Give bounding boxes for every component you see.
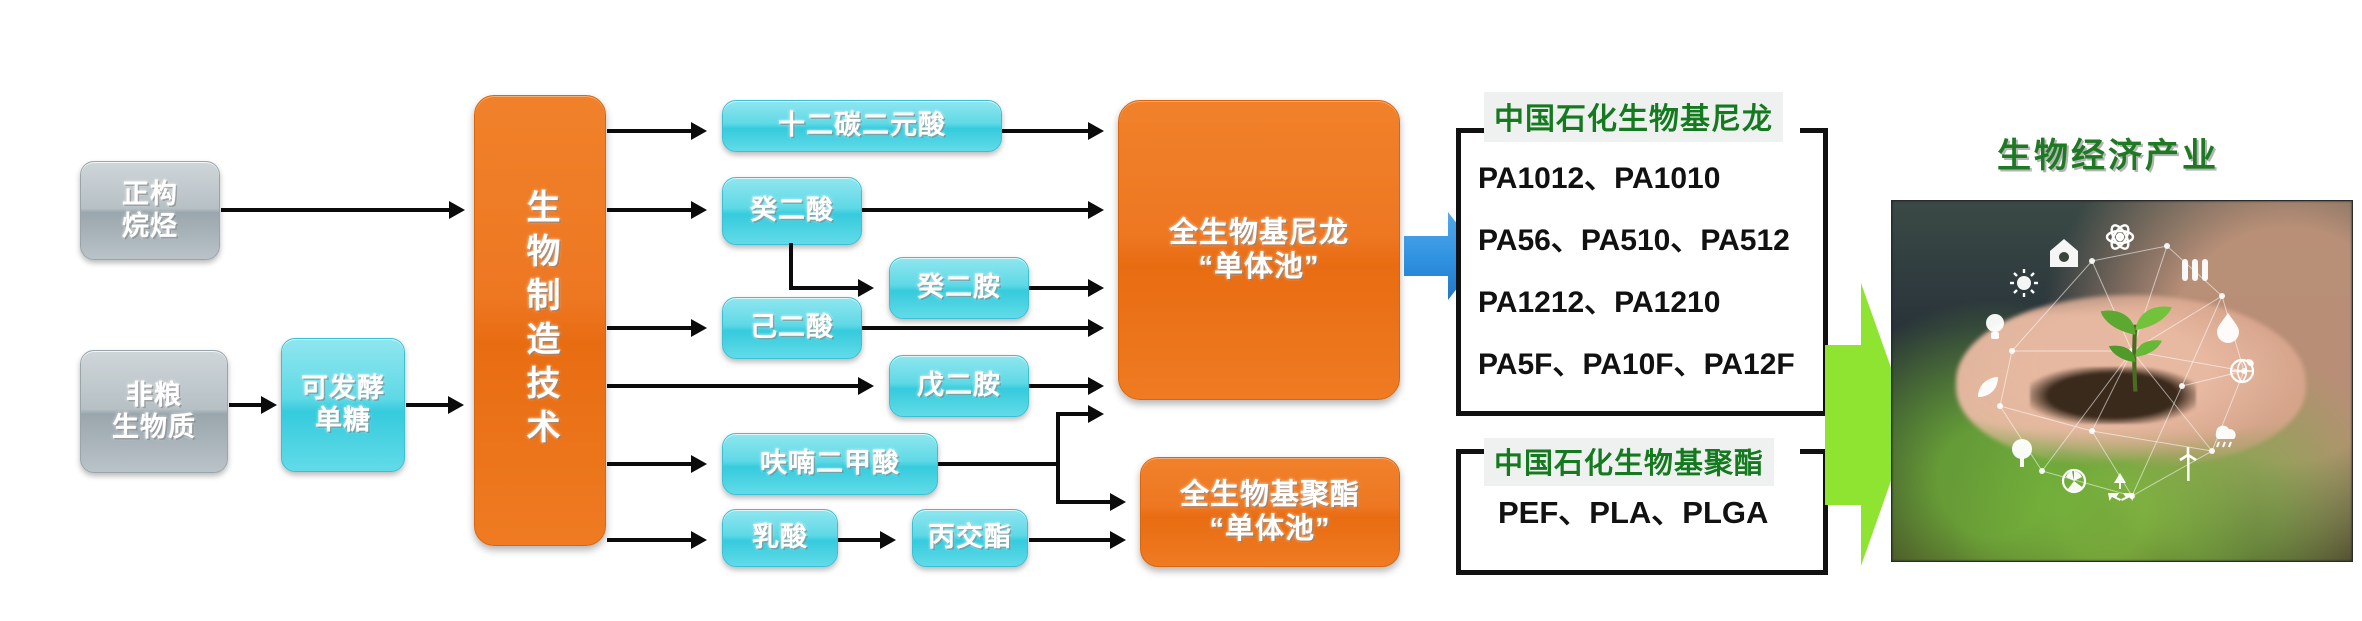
node-fermentable-sugar-label: 可发酵 单糖 [301, 373, 385, 437]
connector-dodecanedioic-to-nylonpool [1002, 129, 1090, 133]
connector-furandicarboxylic-to-nylonpool [1056, 412, 1090, 416]
connector-sebacic-to-decamethylenediamine [789, 286, 861, 290]
arrowhead-dodecanedioic-to-nylonpool [1088, 122, 1104, 140]
node-fermentable-sugar[interactable]: 可发酵 单糖 [281, 338, 405, 472]
connector-tech-to-adipic [607, 326, 693, 330]
arrowhead-biomass-to-sugar [261, 396, 277, 414]
panel-sinopec-bio-nylon-title: 中国石化生物基尼龙 [1484, 92, 1783, 142]
list-item: PA5F、PA10F、PA12F [1478, 334, 1795, 396]
node-n-alkane-line2: 烷烃 [122, 211, 178, 241]
recycle-icon [2108, 473, 2134, 501]
arrowhead-tech-to-pentanediamine [858, 377, 874, 395]
globe-plant-icon [2231, 359, 2254, 382]
node-bio-nylon-pool[interactable]: 全生物基尼龙 “单体池” [1118, 100, 1400, 400]
connector-tech-to-dodecanedioic [607, 129, 693, 133]
panel-sinopec-bio-polyester-title: 中国石化生物基聚酯 [1484, 438, 1774, 486]
connector-adipic-to-nylonpool [862, 326, 1090, 330]
fan-icon [2063, 470, 2085, 492]
arrowhead-sebacic-to-nylonpool [1088, 201, 1104, 219]
house-icon [2050, 239, 2078, 267]
node-bio-polyester-pool[interactable]: 全生物基聚酯 “单体池” [1140, 457, 1400, 567]
panel-sinopec-bio-polyester-items: PEF、PLA、PLGA [1498, 489, 1768, 537]
sun-icon [2010, 269, 2038, 297]
node-non-grain-biomass[interactable]: 非粮 生物质 [80, 350, 228, 473]
node-fermentable-sugar-line2: 单糖 [315, 405, 371, 435]
connector-sebacic-down [789, 243, 793, 288]
node-dodecanedioic-acid-label: 十二碳二元酸 [778, 110, 946, 142]
arrowhead-tech-to-lactic [691, 531, 707, 549]
node-adipic-acid[interactable]: 己二酸 [722, 297, 862, 359]
node-non-grain-biomass-line2: 生物质 [112, 412, 196, 442]
tree-icon [2012, 439, 2032, 467]
arrowhead-sugar-to-tech [448, 396, 464, 414]
list-item: PA1012、PA1010 [1478, 148, 1795, 210]
node-lactide-label: 丙交酯 [928, 522, 1012, 554]
node-bio-manufacturing-technology-label: 生物制造技术 [520, 189, 560, 453]
connector-biomass-to-sugar [229, 403, 263, 407]
node-bio-polyester-pool-line2: “单体池” [1209, 513, 1330, 545]
node-bio-nylon-pool-label: 全生物基尼龙 “单体池” [1169, 216, 1349, 284]
connector-furandicarboxylic-to-polyesterpool [1056, 500, 1112, 504]
node-lactic-acid-label: 乳酸 [752, 522, 808, 554]
connector-furandicarboxylic-trunk [938, 462, 1060, 466]
connector-furandicarboxylic-riser [1056, 412, 1060, 504]
list-item: PA1212、PA1210 [1478, 272, 1795, 334]
outcome-title: 生物经济产业 [1997, 128, 2219, 177]
node-pentanediamine[interactable]: 戊二胺 [889, 355, 1029, 417]
arrowhead-sebacic-to-decamethylenediamine [858, 279, 874, 297]
node-decamethylenediamine[interactable]: 癸二胺 [889, 257, 1029, 319]
test-tubes-icon [2182, 259, 2208, 281]
arrowhead-furandicarboxylic-to-polyesterpool [1110, 493, 1126, 511]
connector-tech-to-sebacic [607, 208, 693, 212]
connector-lactic-to-lactide [838, 538, 882, 542]
node-n-alkane[interactable]: 正构 烷烃 [80, 161, 220, 260]
connector-decamethylenediamine-to-nylonpool [1029, 286, 1090, 290]
arrowhead-tech-to-adipic [691, 319, 707, 337]
node-lactide[interactable]: 丙交酯 [912, 509, 1028, 567]
node-sebacic-acid-label: 癸二酸 [750, 195, 834, 227]
arrowhead-lactide-to-polyesterpool [1110, 531, 1126, 549]
wind-turbine-icon [2180, 447, 2196, 481]
node-bio-nylon-pool-line2: “单体池” [1198, 251, 1319, 283]
atom-icon [2107, 223, 2133, 252]
panel-sinopec-bio-nylon-items: PA1012、PA1010 PA56、PA510、PA512 PA1212、PA… [1478, 148, 1795, 396]
node-bio-polyester-pool-label: 全生物基聚酯 “单体池” [1180, 478, 1360, 546]
node-furandicarboxylic-acid-label: 呋喃二甲酸 [760, 448, 900, 480]
lightbulb-icon [1986, 314, 2004, 339]
arrowhead-furandicarboxylic-to-nylonpool [1088, 405, 1104, 423]
arrowhead-lactic-to-lactide [880, 531, 896, 549]
arrowhead-tech-to-sebacic [691, 201, 707, 219]
node-non-grain-biomass-line1: 非粮 [126, 380, 182, 410]
arrowhead-pentanediamine-to-nylonpool [1088, 377, 1104, 395]
node-fermentable-sugar-line1: 可发酵 [301, 373, 385, 403]
node-furandicarboxylic-acid[interactable]: 呋喃二甲酸 [722, 433, 938, 495]
arrowhead-decamethylenediamine-to-nylonpool [1088, 279, 1104, 297]
arrowhead-alkane-to-tech [449, 201, 465, 219]
leaf-icon [1978, 377, 1998, 397]
node-n-alkane-line1: 正构 [122, 179, 178, 209]
node-n-alkane-label: 正构 烷烃 [122, 179, 178, 243]
connector-sebacic-to-nylonpool [862, 208, 1090, 212]
photo-sprout [2094, 298, 2177, 392]
node-bio-manufacturing-technology[interactable]: 生物制造技术 [474, 95, 606, 546]
outcome-photo [1891, 200, 2353, 562]
connector-pentanediamine-to-nylonpool [1029, 384, 1090, 388]
arrowhead-tech-to-furandicarboxylic [691, 455, 707, 473]
node-adipic-acid-label: 己二酸 [750, 312, 834, 344]
diagram-canvas: 正构 烷烃 非粮 生物质 可发酵 单糖 生物制造技术 十二碳二元酸 癸二酸 癸二… [0, 0, 2362, 621]
list-item: PA56、PA510、PA512 [1478, 210, 1795, 272]
node-bio-nylon-pool-line1: 全生物基尼龙 [1169, 217, 1349, 249]
node-pentanediamine-label: 戊二胺 [917, 370, 1001, 402]
arrowhead-adipic-to-nylonpool [1088, 319, 1104, 337]
list-item: PEF、PLA、PLGA [1498, 489, 1768, 537]
rain-cloud-icon [2216, 426, 2236, 447]
node-non-grain-biomass-label: 非粮 生物质 [112, 380, 196, 444]
node-decamethylenediamine-label: 癸二胺 [917, 272, 1001, 304]
water-drop-icon [2217, 313, 2239, 343]
connector-sugar-to-tech [406, 403, 450, 407]
connector-tech-to-lactic [607, 538, 693, 542]
node-dodecanedioic-acid[interactable]: 十二碳二元酸 [722, 100, 1002, 152]
connector-tech-to-pentanediamine [607, 384, 860, 388]
connector-alkane-to-tech [221, 208, 451, 212]
connector-lactide-to-polyesterpool [1029, 538, 1112, 542]
node-bio-polyester-pool-line1: 全生物基聚酯 [1180, 479, 1360, 511]
node-sebacic-acid[interactable]: 癸二酸 [722, 177, 862, 245]
arrowhead-tech-to-dodecanedioic [691, 122, 707, 140]
node-lactic-acid[interactable]: 乳酸 [722, 509, 838, 567]
connector-tech-to-furandicarboxylic [607, 462, 693, 466]
